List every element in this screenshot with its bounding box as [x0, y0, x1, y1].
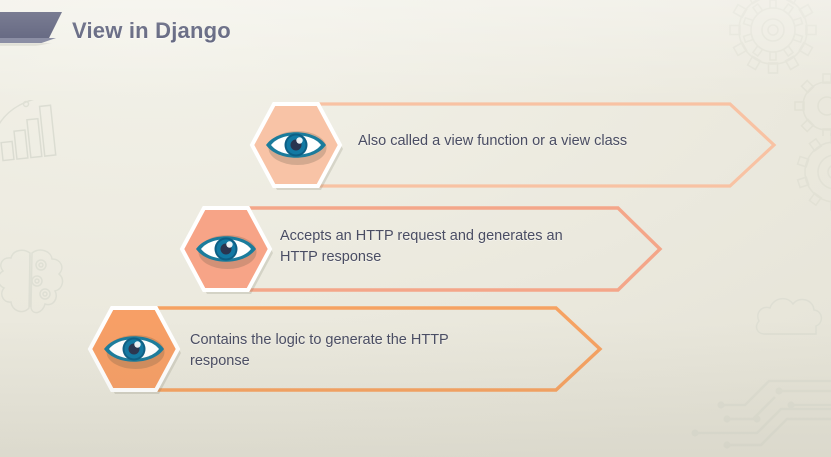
page-title: View in Django [72, 18, 231, 44]
slide-header: View in Django [0, 0, 831, 62]
circuit-traces-icon [691, 377, 831, 457]
title-tab-underline [0, 38, 56, 43]
hexagon-badge[interactable] [86, 300, 182, 398]
gear-outline-icon [771, 120, 831, 230]
list-item-label: Accepts an HTTP request and generates an… [280, 226, 630, 267]
list-item-label: Also called a view function or a view cl… [358, 131, 718, 152]
brain-outline-icon [0, 245, 66, 325]
hexagon-badge[interactable] [178, 200, 274, 298]
list-item[interactable]: Accepts an HTTP request and generates an… [178, 200, 662, 298]
hexagon-badge[interactable] [248, 96, 344, 194]
title-tab-decoration [0, 12, 62, 38]
bar-chart-outline-icon [0, 100, 60, 170]
list-item-label: Contains the logic to generate the HTTP … [190, 330, 520, 371]
title-tab-shadow [0, 43, 52, 46]
list-item[interactable]: Also called a view function or a view cl… [248, 96, 776, 194]
list-item[interactable]: Contains the logic to generate the HTTP … [86, 300, 602, 398]
slide-canvas: View in Django [0, 0, 831, 457]
cloud-outline-icon [753, 292, 825, 340]
